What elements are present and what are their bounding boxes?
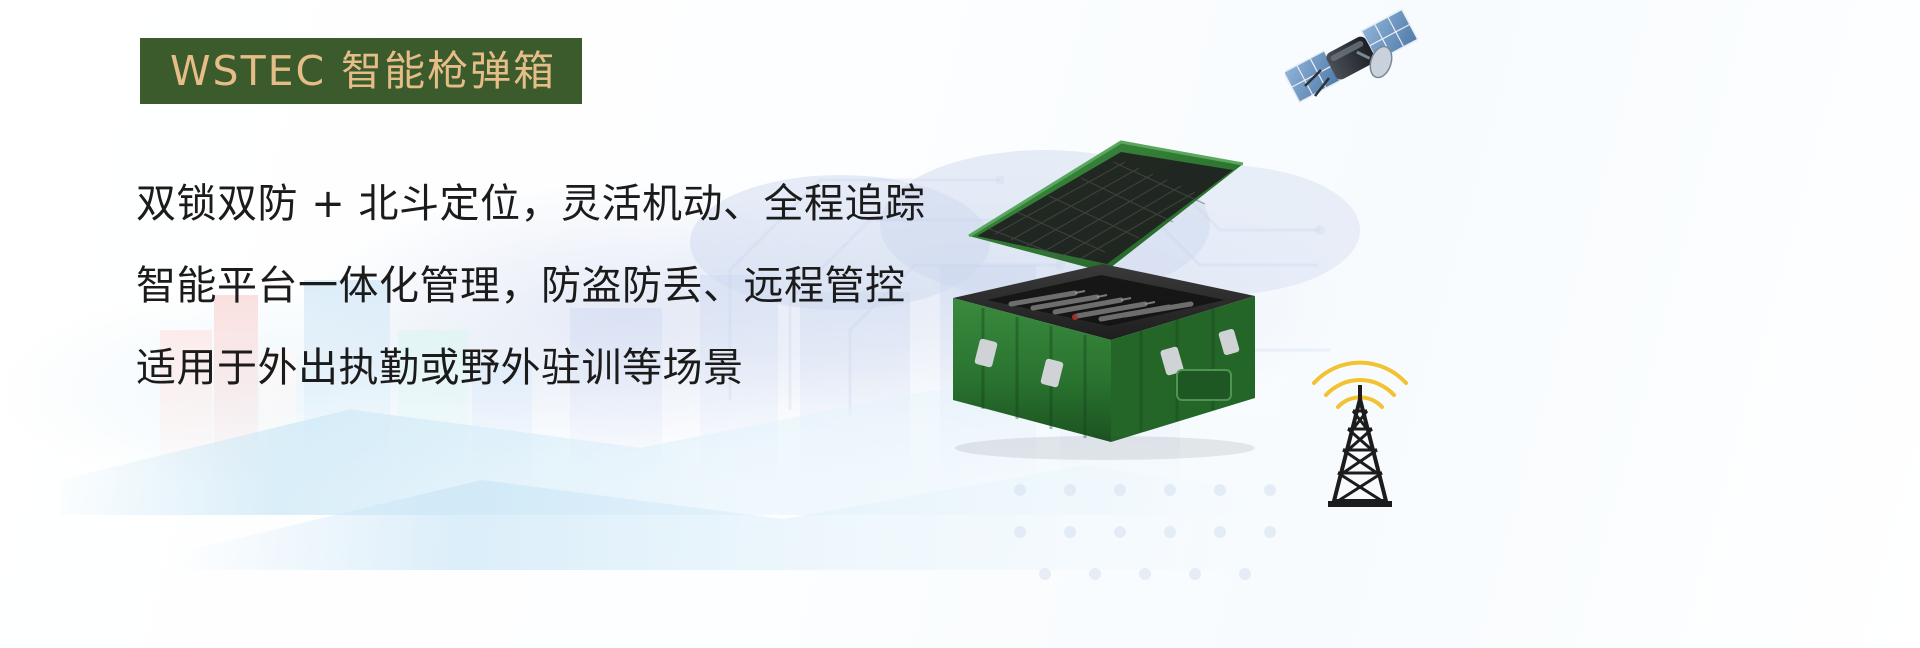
page-title: WSTEC 智能枪弹箱 — [170, 51, 556, 92]
feature-line-2: 智能平台一体化管理，防盗防丢、远程管控 — [136, 264, 925, 308]
feature-list: 双锁双防 + 北斗定位，灵活机动、全程追踪 智能平台一体化管理，防盗防丢、远程管… — [136, 182, 925, 390]
tower-structure — [1328, 385, 1392, 507]
case-lid — [969, 142, 1243, 272]
title-banner: WSTEC 智能枪弹箱 — [140, 38, 582, 104]
case-handle — [1177, 370, 1231, 400]
feature-line-3: 适用于外出执勤或野外驻训等场景 — [136, 346, 925, 390]
case-body — [953, 264, 1255, 460]
signal-tower-graphic — [1300, 355, 1420, 515]
hard-case-graphic — [925, 112, 1285, 472]
satellite-graphic — [1285, 8, 1425, 123]
signal-tower-icon — [1300, 355, 1420, 515]
satellite-icon — [1285, 8, 1425, 123]
product-image-hard-case — [925, 112, 1285, 472]
dot-grid-graphic — [1000, 470, 1340, 590]
feature-line-1: 双锁双防 + 北斗定位，灵活机动、全程追踪 — [136, 182, 925, 226]
product-banner: WSTEC 智能枪弹箱 双锁双防 + 北斗定位，灵活机动、全程追踪 智能平台一体… — [0, 0, 1920, 648]
